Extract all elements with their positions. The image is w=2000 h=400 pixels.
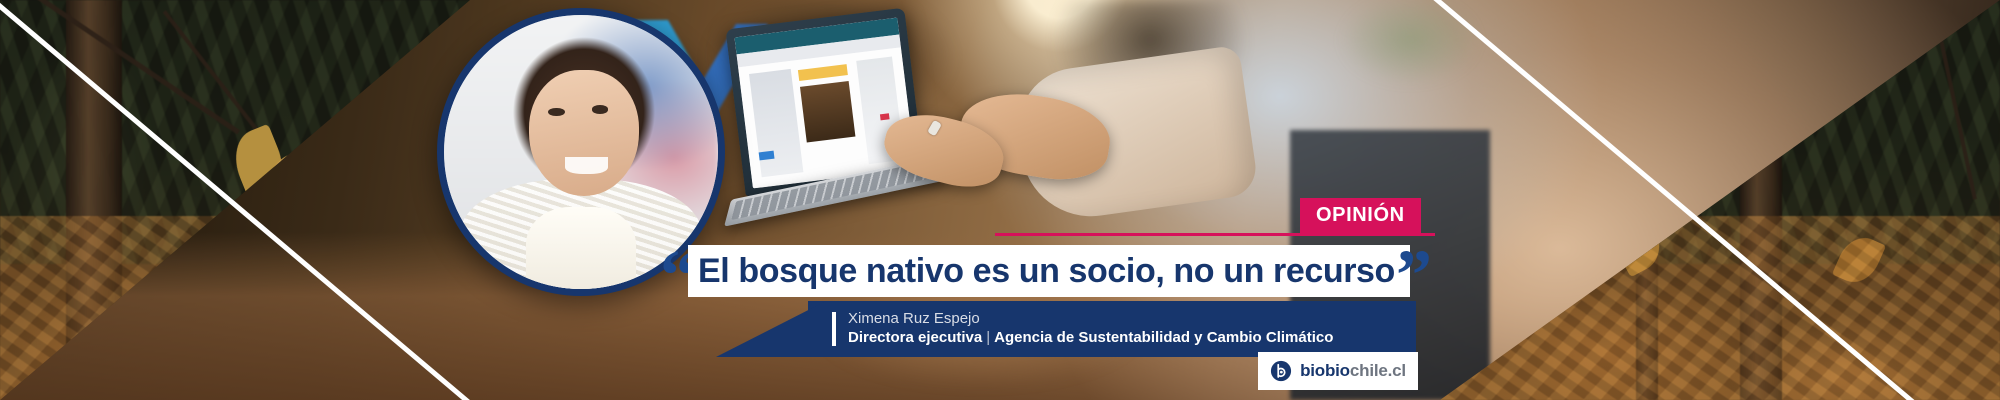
wordmark-primary: biobio bbox=[1300, 361, 1350, 380]
biobiochile-b-icon bbox=[1270, 360, 1292, 382]
author-organization: Agencia de Sustentabilidad y Cambio Clim… bbox=[994, 329, 1333, 346]
screen-left-column bbox=[749, 69, 804, 178]
opinion-banner: OPINIÓN “ El bosque nativo es un socio, … bbox=[0, 0, 2000, 400]
role-separator: | bbox=[982, 329, 994, 346]
screen-red-marker bbox=[879, 113, 889, 120]
status-badge: OPINIÓN bbox=[1300, 198, 1421, 233]
portrait-smile bbox=[565, 157, 609, 173]
laptop-screen bbox=[734, 18, 915, 189]
author-name: Ximena Ruz Espejo bbox=[848, 310, 1333, 329]
portrait-eye-right bbox=[592, 105, 608, 113]
screen-image-thumbnail bbox=[800, 81, 856, 143]
biobiochile-logo[interactable]: biobiochile.cl bbox=[1258, 352, 1418, 390]
wordmark-secondary: chile.cl bbox=[1350, 361, 1406, 380]
screen-blue-marker bbox=[758, 150, 774, 160]
laptop bbox=[725, 8, 924, 197]
accent-rule bbox=[995, 233, 1435, 236]
author-role: Directora ejecutiva bbox=[848, 329, 982, 346]
finger-ring bbox=[927, 120, 942, 137]
credit-tick-mark bbox=[832, 312, 836, 346]
author-credit-bar: Ximena Ruz Espejo Directora ejecutiva|Ag… bbox=[808, 301, 1416, 357]
screen-yellow-button bbox=[798, 64, 848, 81]
portrait-face bbox=[529, 70, 639, 196]
headline-text: El bosque nativo es un socio, no un recu… bbox=[698, 252, 1395, 291]
biobiochile-wordmark: biobiochile.cl bbox=[1300, 361, 1406, 381]
credit-lines: Ximena Ruz Espejo Directora ejecutiva|Ag… bbox=[848, 310, 1333, 348]
author-role-line: Directora ejecutiva|Agencia de Sustentab… bbox=[848, 329, 1333, 348]
headline-bar: El bosque nativo es un socio, no un recu… bbox=[688, 245, 1410, 297]
